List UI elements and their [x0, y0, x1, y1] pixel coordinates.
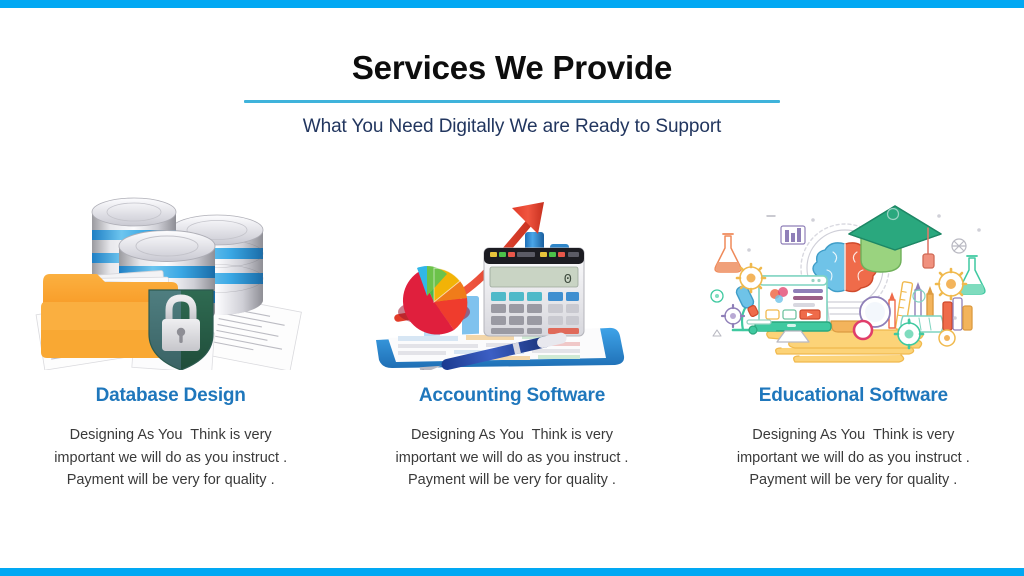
- books-icon: [943, 298, 972, 330]
- card-body-line: Payment will be very for quality .: [708, 469, 998, 492]
- card-body-line: Payment will be very for quality .: [367, 469, 657, 492]
- card-body-line: important we will do as you instruct .: [708, 447, 998, 470]
- slide-header: Services We Provide What You Need Digita…: [0, 48, 1024, 140]
- card-body-line: Designing As You Think is very: [26, 424, 316, 447]
- card-title-database-design: Database Design: [96, 384, 246, 408]
- calculator-icon: 0: [484, 248, 584, 336]
- stationery-cluster: [889, 282, 943, 332]
- service-card-database-design: Database Design Designing As You Think i…: [0, 190, 341, 492]
- card-body-line: important we will do as you instruct .: [367, 447, 657, 470]
- graduation-cap-icon: [849, 206, 941, 272]
- svg-text:0: 0: [564, 272, 572, 288]
- title-divider-rule: [244, 100, 780, 103]
- database-security-illustration: [21, 190, 321, 370]
- card-body-line: Designing As You Think is very: [708, 424, 998, 447]
- card-title-accounting-software: Accounting Software: [419, 384, 605, 408]
- page-subtitle: What You Need Digitally We are Ready to …: [0, 114, 1024, 140]
- services-card-row: Database Design Designing As You Think i…: [0, 190, 1024, 492]
- card-body-database-design: Designing As You Think is very important…: [26, 424, 316, 492]
- service-card-educational-software: Educational Software Designing As You Th…: [683, 190, 1024, 492]
- card-title-educational-software: Educational Software: [759, 384, 948, 408]
- card-body-line: Payment will be very for quality .: [26, 469, 316, 492]
- card-body-line: important we will do as you instruct .: [26, 447, 316, 470]
- top-accent-bar: [0, 0, 1024, 8]
- page-title: Services We Provide: [0, 48, 1024, 88]
- education-lightbulb-brain-illustration: [703, 190, 1003, 370]
- accounting-calculator-chart-illustration: 0: [362, 190, 662, 370]
- pie-chart-icon: [398, 266, 470, 335]
- card-body-accounting-software: Designing As You Think is very important…: [367, 424, 657, 492]
- card-body-educational-software: Designing As You Think is very important…: [708, 424, 998, 492]
- flask-icon-left: [715, 234, 741, 272]
- slide-canvas: Services We Provide What You Need Digita…: [0, 0, 1024, 576]
- card-body-line: Designing As You Think is very: [367, 424, 657, 447]
- service-card-accounting-software: 0: [341, 190, 682, 492]
- bottom-accent-bar: [0, 568, 1024, 576]
